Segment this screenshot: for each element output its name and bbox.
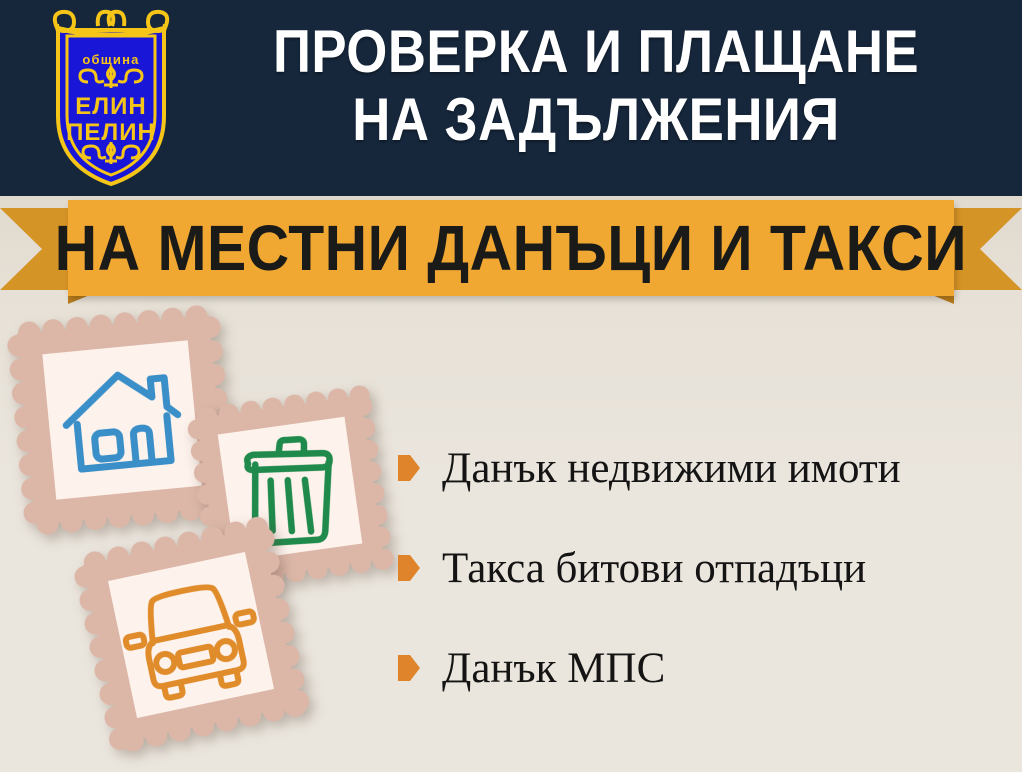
municipality-logo: община ЕЛИН ПЕЛИН	[36, 6, 186, 188]
page-header: община ЕЛИН ПЕЛИН	[0, 0, 1022, 196]
tax-types-list: Данък недвижими имоти Такса битови отпад…	[398, 418, 1018, 718]
page-title: ПРОВЕРКА И ПЛАЩАНЕ НА ЗАДЪЛЖЕНИЯ	[186, 18, 1006, 155]
list-item[interactable]: Такса битови отпадъци	[398, 518, 1018, 618]
page-title-line-2: НА ЗАДЪЛЖЕНИЯ	[235, 86, 957, 154]
bullet-arrow-icon	[398, 655, 420, 681]
ribbon-band: НА МЕСТНИ ДАНЪЦИ И ТАКСИ	[68, 200, 954, 296]
stamp-card-car	[69, 513, 313, 757]
poster-root: община ЕЛИН ПЕЛИН	[0, 0, 1022, 772]
list-item[interactable]: Данък МПС	[398, 618, 1018, 718]
list-item-label: Такса битови отпадъци	[442, 547, 866, 590]
bullet-arrow-icon	[398, 555, 420, 581]
bullet-arrow-icon	[398, 455, 420, 481]
list-item-label: Данък недвижими имоти	[442, 447, 901, 490]
list-item[interactable]: Данък недвижими имоти	[398, 418, 1018, 518]
logo-text-elin: ЕЛИН	[75, 93, 146, 120]
coat-of-arms-icon: община ЕЛИН ПЕЛИН	[36, 6, 186, 188]
logo-text-obshtina: община	[82, 52, 139, 67]
logo-text-pelin: ПЕЛИН	[66, 119, 156, 146]
stamp-collage	[0, 300, 420, 772]
subtitle-ribbon: НА МЕСТНИ ДАНЪЦИ И ТАКСИ	[0, 196, 1022, 306]
list-item-label: Данък МПС	[442, 647, 665, 690]
page-title-line-1: ПРОВЕРКА И ПЛАЩАНЕ	[235, 18, 957, 86]
ribbon-label: НА МЕСТНИ ДАНЪЦИ И ТАКСИ	[55, 211, 967, 285]
